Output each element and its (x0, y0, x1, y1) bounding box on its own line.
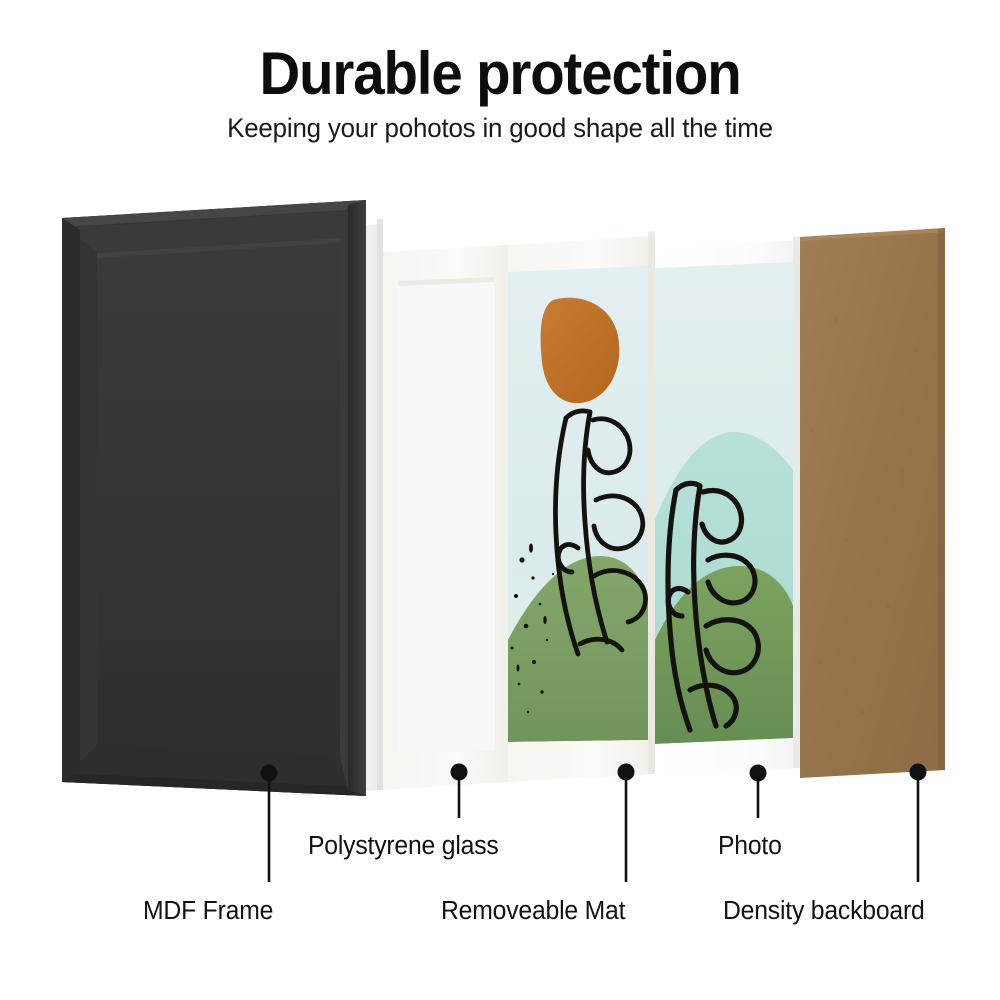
leader-photo (750, 765, 767, 819)
callout-label-removeable-mat: Removeable Mat (441, 897, 625, 926)
callout-label-polystyrene-glass: Polystyrene glass (308, 832, 499, 861)
callout-label-photo: Photo (718, 832, 782, 861)
leader-polystyrene-glass (451, 764, 468, 819)
callout-label-mdf-frame: MDF Frame (143, 897, 273, 926)
exploded-frame-diagram (0, 0, 1000, 1000)
leader-removeable-mat (618, 764, 635, 883)
layer-mdf-frame (62, 200, 366, 796)
product-infographic: Durable protection Keeping your pohotos … (0, 0, 1000, 1000)
layer-removeable-mat (508, 231, 655, 782)
leader-density-backboard (910, 764, 927, 883)
layer-mat-under-glass (383, 240, 508, 790)
callout-label-density-backboard: Density backboard (723, 897, 925, 926)
layer-photo (655, 236, 800, 776)
layer-density-backboard (800, 228, 945, 778)
